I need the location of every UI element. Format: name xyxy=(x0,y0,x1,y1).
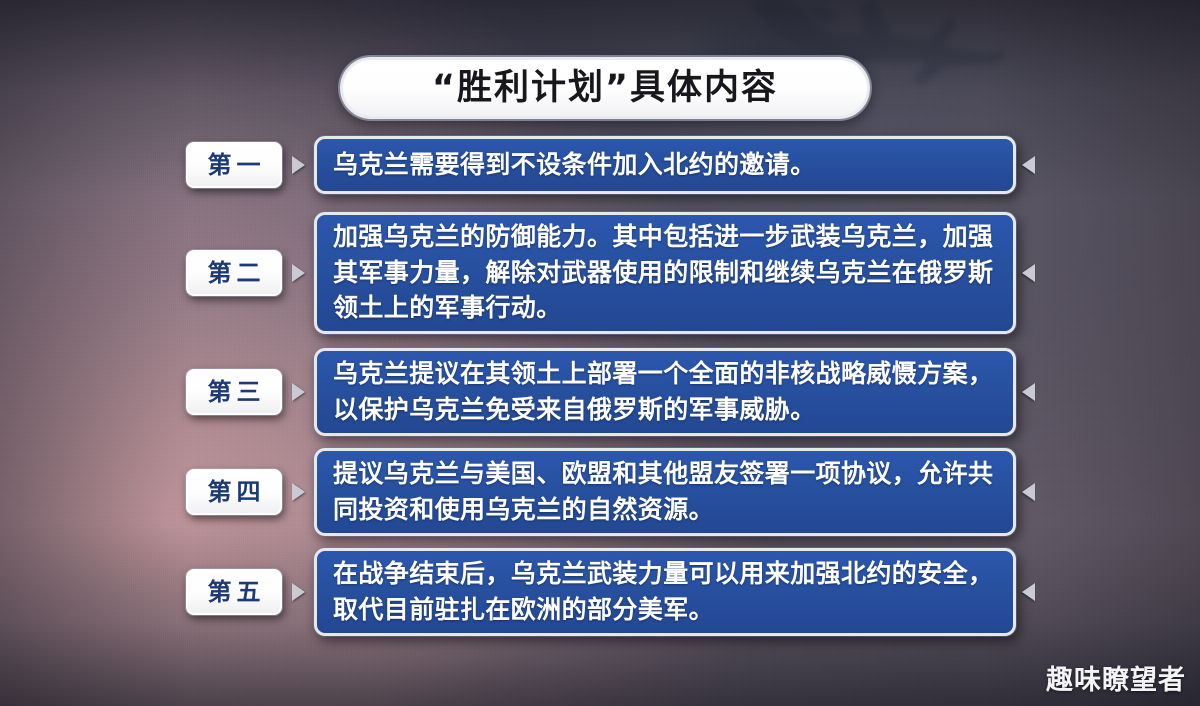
item-panel[interactable]: 在战争结束后，乌克兰武装力量可以用来加强北约的安全，取代目前驻扎在欧洲的部分美军… xyxy=(314,548,1016,636)
item-index-chip[interactable]: 第三 xyxy=(186,369,282,415)
slide-canvas: “胜利计划”具体内容 第一 乌克兰需要得到不设条件加入北约的邀请。 第二 加强乌… xyxy=(0,0,1200,706)
right-triangle-icon xyxy=(292,264,305,282)
right-triangle-icon xyxy=(292,583,305,601)
item-panel[interactable]: 提议乌克兰与美国、欧盟和其他盟友签署一项协议，允许共同投资和使用乌克兰的自然资源… xyxy=(314,448,1016,536)
item-index-label: 第五 xyxy=(203,580,266,604)
item-text: 乌克兰需要得到不设条件加入北约的邀请。 xyxy=(333,147,997,183)
left-triangle-icon xyxy=(1022,156,1035,174)
channel-watermark: 趣味瞭望者 xyxy=(1046,667,1186,694)
list-item: 第二 加强乌克兰的防御能力。其中包括进一步武装乌克兰，加强其军事力量，解除对武器… xyxy=(186,212,1036,334)
left-triangle-icon xyxy=(1022,583,1035,601)
item-text: 提议乌克兰与美国、欧盟和其他盟友签署一项协议，允许共同投资和使用乌克兰的自然资源… xyxy=(333,456,997,527)
item-text: 在战争结束后，乌克兰武装力量可以用来加强北约的安全，取代目前驻扎在欧洲的部分美军… xyxy=(333,556,997,627)
item-index-label: 第一 xyxy=(203,153,266,177)
list-item: 第五 在战争结束后，乌克兰武装力量可以用来加强北约的安全，取代目前驻扎在欧洲的部… xyxy=(186,548,1036,636)
list-item: 第四 提议乌克兰与美国、欧盟和其他盟友签署一项协议，允许共同投资和使用乌克兰的自… xyxy=(186,448,1036,536)
right-triangle-icon xyxy=(292,483,305,501)
item-index-chip[interactable]: 第五 xyxy=(186,569,282,615)
right-triangle-icon xyxy=(292,156,305,174)
item-index-chip[interactable]: 第四 xyxy=(186,469,282,515)
item-index-label: 第三 xyxy=(203,380,266,404)
item-index-label: 第四 xyxy=(203,480,266,504)
items-list: 第一 乌克兰需要得到不设条件加入北约的邀请。 第二 加强乌克兰的防御能力。其中包… xyxy=(0,0,1200,706)
item-text: 乌克兰提议在其领土上部署一个全面的非核战略威慑方案，以保护乌克兰免受来自俄罗斯的… xyxy=(333,356,997,427)
item-panel[interactable]: 乌克兰需要得到不设条件加入北约的邀请。 xyxy=(314,136,1016,194)
list-item: 第三 乌克兰提议在其领土上部署一个全面的非核战略威慑方案，以保护乌克兰免受来自俄… xyxy=(186,348,1036,436)
item-index-label: 第二 xyxy=(203,261,266,285)
list-item: 第一 乌克兰需要得到不设条件加入北约的邀请。 xyxy=(186,136,1036,194)
item-text: 加强乌克兰的防御能力。其中包括进一步武装乌克兰，加强其军事力量，解除对武器使用的… xyxy=(333,219,997,326)
item-index-chip[interactable]: 第二 xyxy=(186,250,282,296)
item-index-chip[interactable]: 第一 xyxy=(186,142,282,188)
left-triangle-icon xyxy=(1022,264,1035,282)
item-panel[interactable]: 加强乌克兰的防御能力。其中包括进一步武装乌克兰，加强其军事力量，解除对武器使用的… xyxy=(314,212,1016,334)
right-triangle-icon xyxy=(292,383,305,401)
item-panel[interactable]: 乌克兰提议在其领土上部署一个全面的非核战略威慑方案，以保护乌克兰免受来自俄罗斯的… xyxy=(314,348,1016,436)
left-triangle-icon xyxy=(1022,483,1035,501)
left-triangle-icon xyxy=(1022,383,1035,401)
